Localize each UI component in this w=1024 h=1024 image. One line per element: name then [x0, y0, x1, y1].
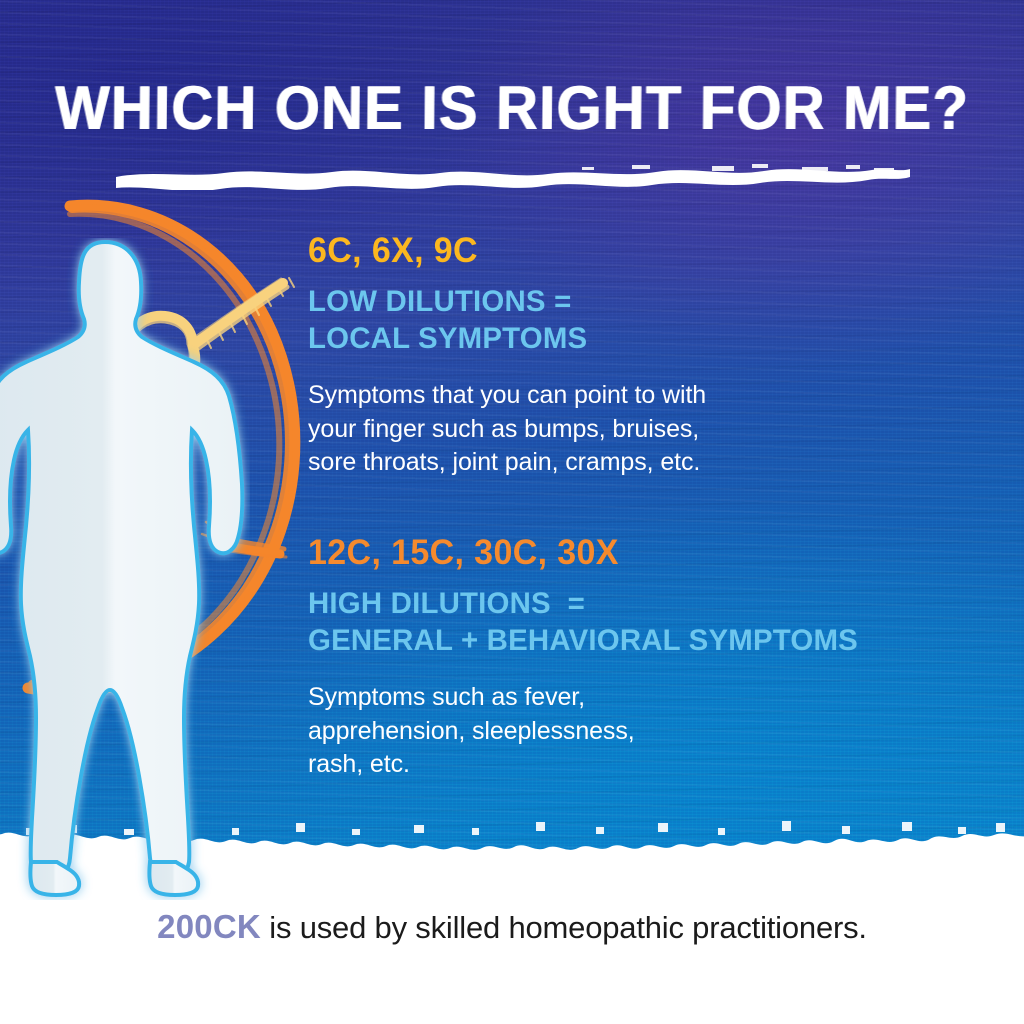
- body-copy-high-line-3: rash, etc.: [308, 748, 968, 781]
- dilution-label-low: 6C, 6X, 9C: [308, 233, 948, 268]
- sub-heading-low: LOW DILUTIONS = LOCAL SYMPTOMS: [308, 283, 955, 357]
- page-title: WHICH ONE IS RIGHT FOR ME?: [36, 78, 989, 140]
- dilution-block-high: 12C, 15C, 30C, 30X HIGH DILUTIONS = GENE…: [308, 535, 968, 781]
- dilution-block-low: 6C, 6X, 9C LOW DILUTIONS = LOCAL SYMPTOM…: [308, 233, 968, 479]
- body-copy-low-line-1: Symptoms that you can point to with: [308, 379, 968, 412]
- footer-potency-label: 200CK: [157, 908, 261, 945]
- sub-heading-low-line-2: LOCAL SYMPTOMS: [308, 320, 955, 357]
- sub-heading-high-line-2: GENERAL + BEHAVIORAL SYMPTOMS: [308, 622, 955, 659]
- dilution-label-high: 12C, 15C, 30C, 30X: [308, 535, 948, 570]
- title-brush-underline: [112, 160, 912, 190]
- sub-heading-high-line-1: HIGH DILUTIONS =: [308, 585, 955, 622]
- body-copy-high: Symptoms such as fever, apprehension, sl…: [308, 681, 968, 781]
- poster-title-wrapper: WHICH ONE IS RIGHT FOR ME?: [0, 78, 1024, 140]
- body-copy-low: Symptoms that you can point to with your…: [308, 379, 968, 479]
- body-copy-high-line-1: Symptoms such as fever,: [308, 681, 968, 714]
- body-copy-high-line-2: apprehension, sleeplessness,: [308, 715, 968, 748]
- footer-note-text: is used by skilled homeopathic practitio…: [261, 910, 867, 945]
- sub-heading-high: HIGH DILUTIONS = GENERAL + BEHAVIORAL SY…: [308, 585, 955, 659]
- sub-heading-low-line-1: LOW DILUTIONS =: [308, 283, 955, 320]
- footer-note: 200CK is used by skilled homeopathic pra…: [0, 908, 1024, 946]
- body-copy-low-line-2: your finger such as bumps, bruises,: [308, 413, 968, 446]
- body-copy-low-line-3: sore throats, joint pain, cramps, etc.: [308, 446, 968, 479]
- human-body-silhouette-icon: [0, 238, 250, 900]
- infographic-poster: WHICH ONE IS RIGHT FOR ME? 6C, 6X, 9C LO…: [0, 0, 1024, 1024]
